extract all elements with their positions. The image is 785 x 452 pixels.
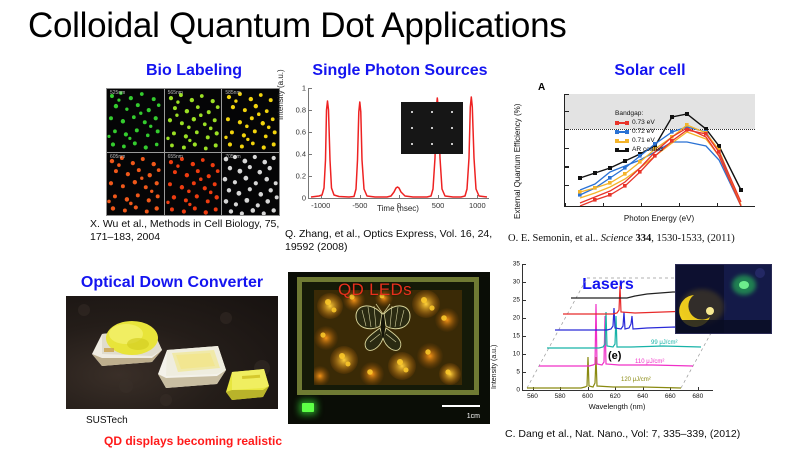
page-title: Colloidal Quantum Dot Applications [28,6,758,46]
section-heading-single-photon-sources: Single Photon Sources [300,62,500,80]
solar-caption-post: , 1530-1533, (2011) [651,233,735,244]
lasers-x-tick-label: 620 [610,393,621,400]
legend-swatch-071 [615,141,629,143]
lasers-x-tick-label: 600 [582,393,593,400]
led-packages-illustration [66,296,278,409]
solar-panel-letter: A [538,82,545,93]
bio-panel: 565nm [165,89,222,152]
bio-panel-label: 585nm [225,90,240,96]
section-heading-bio-labeling: Bio Labeling [104,62,284,80]
slide-root: Colloidal Quantum Dot Applications Bio L… [0,0,785,452]
lasers-x-tick-label: 580 [555,393,566,400]
bio-dots-white [222,153,279,216]
bio-panel: 605nm [107,153,164,216]
legend-swatch-072 [615,131,629,133]
bio-panel: 705nm [222,153,279,216]
solar-legend-item[interactable]: 0.73 eV [615,119,663,128]
lasers-caption: C. Dang et al., Nat. Nano., Vol: 7, 335–… [505,428,740,441]
lasers-x-tick-label: 660 [665,393,676,400]
section-heading-solar-cell: Solar cell [570,62,730,80]
lasers-x-axis-label: Wavelength (nm) [522,402,712,411]
bio-panel-label: 655nm [168,154,183,160]
lasers-y-tick-label: 10 [513,350,520,357]
sps-y-tick-label: 0.8 [296,106,306,115]
solar-cell-chart: A External Quantum Efficiency (%) [520,82,775,224]
lasers-y-tick-label: 15 [513,332,520,339]
sps-y-tick-label: 0.6 [296,128,306,137]
bio-labeling-image: 525nm 565nm [106,88,280,216]
solar-legend: Bandgap: 0.73 eV 0.72 eV 0.71 eV AR coat… [615,110,663,155]
led-package-domed [92,321,162,366]
lasers-inset-photo [675,264,772,334]
solar-cell-caption: O. E. Semonin, et al.. Science 334, 1530… [508,232,735,245]
section-heading-optical-down-converter: Optical Down Converter [62,274,282,292]
sps-y-tick-label: 0.4 [296,150,306,159]
solar-caption-pre: O. E. Semonin, et al.. [508,233,601,244]
bio-panel: 655nm [165,153,222,216]
lasers-x-tick-label: 680 [692,393,703,400]
solar-legend-item[interactable]: 0.72 eV [615,128,663,137]
legend-label-071: 0.71 eV [632,137,655,146]
solar-plot-area: Bandgap: 0.73 eV 0.72 eV 0.71 eV AR coat… [564,94,755,207]
lasers-fluence-label-120: 120 μJ/cm² [621,377,651,383]
butterfly-on-flowers-image [314,290,462,385]
bio-dots-yellowgreen [165,89,222,152]
lasers-x-tick-label: 640 [637,393,648,400]
solar-legend-title: Bandgap: [615,110,663,119]
sps-plot-area: 1 0.8 0.6 0.4 0.2 0 -1000 -500 0 500 100… [308,88,489,199]
bio-dots-red [165,153,222,216]
optical-down-converter-photo [66,296,278,409]
solar-caption-volume: 334 [635,233,651,244]
solar-legend-item[interactable]: 0.71 eV [615,137,663,146]
qd-scale-bar [442,405,480,407]
bio-dots-orange [107,153,164,216]
legend-label-072: 0.72 eV [632,128,655,137]
bio-panel-label: 605nm [110,154,125,160]
lasers-y-tick-label: 0 [516,387,520,394]
solar-x-axis-label: Photon Energy (eV) [564,214,754,223]
lasers-panel-letter: (e) [608,350,621,362]
lasers-y-tick-label: 35 [513,261,520,268]
qd-indicator-led [302,403,314,412]
lasers-x-tick-label: 560 [527,393,538,400]
bio-panel-label: 565nm [168,90,183,96]
lasers-y-tick-label: 5 [516,368,520,375]
sps-y-tick-label: 1 [302,84,306,93]
bio-panel: 525nm [107,89,164,152]
bio-dots-yellow [222,89,279,152]
lasers-y-tick-label: 30 [513,279,520,286]
sps-y-axis-label: Intensity (a.u.) [276,69,285,120]
lasers-fluence-label-99: 99 μJ/cm² [651,340,677,346]
sps-x-axis-label: Time (nsec) [308,204,488,213]
bio-panel: 585nm [222,89,279,152]
led-package-flat [158,346,226,388]
single-photon-caption: Q. Zhang, et al., Optics Express, Vol. 1… [285,228,500,254]
lasers-y-tick-label: 25 [513,297,520,304]
lasers-y-tick-label: 20 [513,315,520,322]
lasers-fluence-label-110: 110 μJ/cm² [635,359,664,365]
lasers-y-axis-label: Intensity (a.u.) [491,345,498,389]
legend-swatch-ar [615,150,629,152]
qd-scale-bar-label: 1cm [467,413,480,420]
qd-leds-photo: QD LEDs 1cm [288,272,490,424]
legend-label-073: 0.73 eV [632,119,655,128]
legend-label-ar: AR coated [632,146,663,155]
led-package-chip [226,369,269,400]
laser-lab-photo [676,265,771,333]
sps-y-tick-label: 0.2 [296,172,306,181]
solar-y-axis-label: External Quantum Efficiency (%) [513,104,522,219]
bio-labeling-caption: X. Wu et al., Methods in Cell Biology, 7… [90,218,290,244]
sps-y-tick-label: 0 [302,194,306,203]
solar-caption-journal: Science [601,233,636,244]
single-photon-chart: Intensity (a.u.) 1 0.8 0.6 0.4 0.2 0 -10… [280,84,500,224]
sps-inset-emitter-array [401,102,463,154]
bio-panel-label: 705nm [225,154,240,160]
solar-legend-item[interactable]: AR coated [615,146,663,155]
qd-leds-overlay-label: QD LEDs [338,280,412,300]
qd-display-screen [314,290,462,385]
lasers-chart: Intensity (a.u.) 35 30 25 20 15 10 5 0 5… [500,262,785,422]
bio-dots-green [107,89,164,152]
optical-down-converter-caption: SUSTech [86,414,128,427]
qd-displays-tagline: QD displays becoming realistic [104,434,282,448]
legend-swatch-073 [615,122,629,124]
bio-panel-label: 525nm [110,90,125,96]
